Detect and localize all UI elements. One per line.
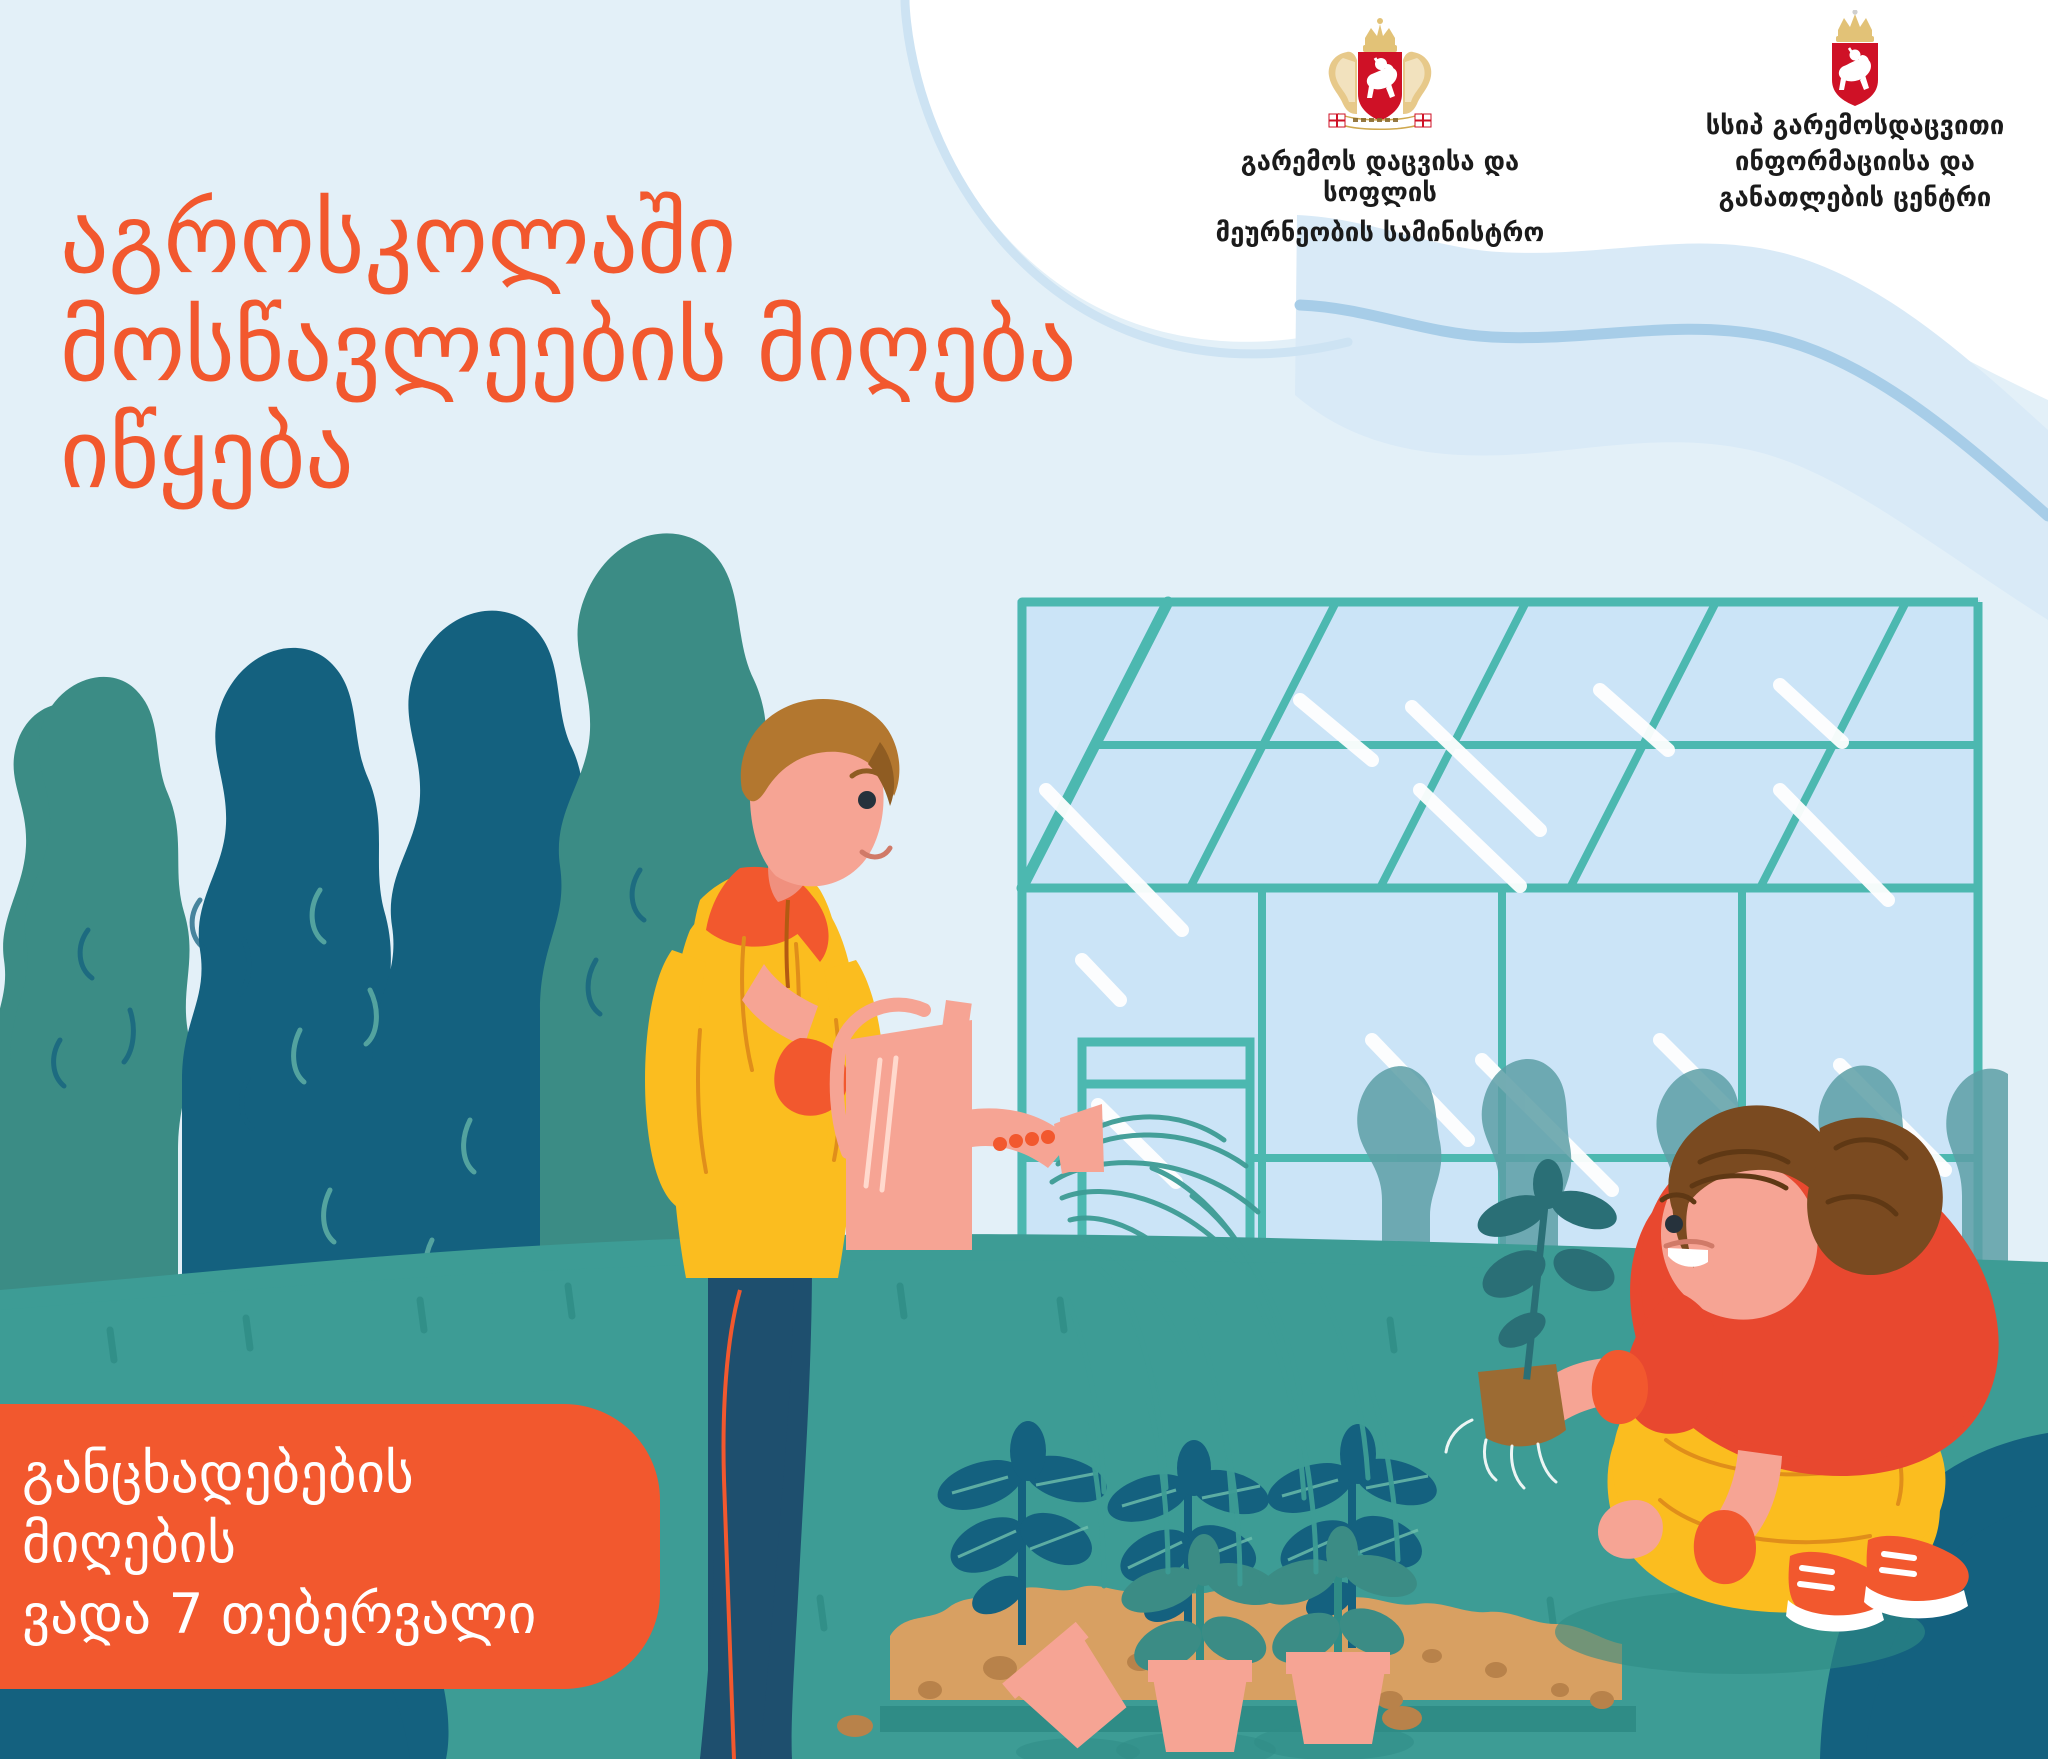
deadline-badge-text: განცხადებების მიღების ვადა 7 თებერვალი [22,1438,620,1649]
page-title: აგროსკოლაში მოსწავლეების მიღება იწყება [60,186,1230,509]
poster-canvas: გარემოს დაცვისა და სოფლის მეურნეობის სამ… [0,0,2048,1759]
deadline-badge: განცხადებების მიღების ვადა 7 თებერვალი [0,1404,660,1689]
